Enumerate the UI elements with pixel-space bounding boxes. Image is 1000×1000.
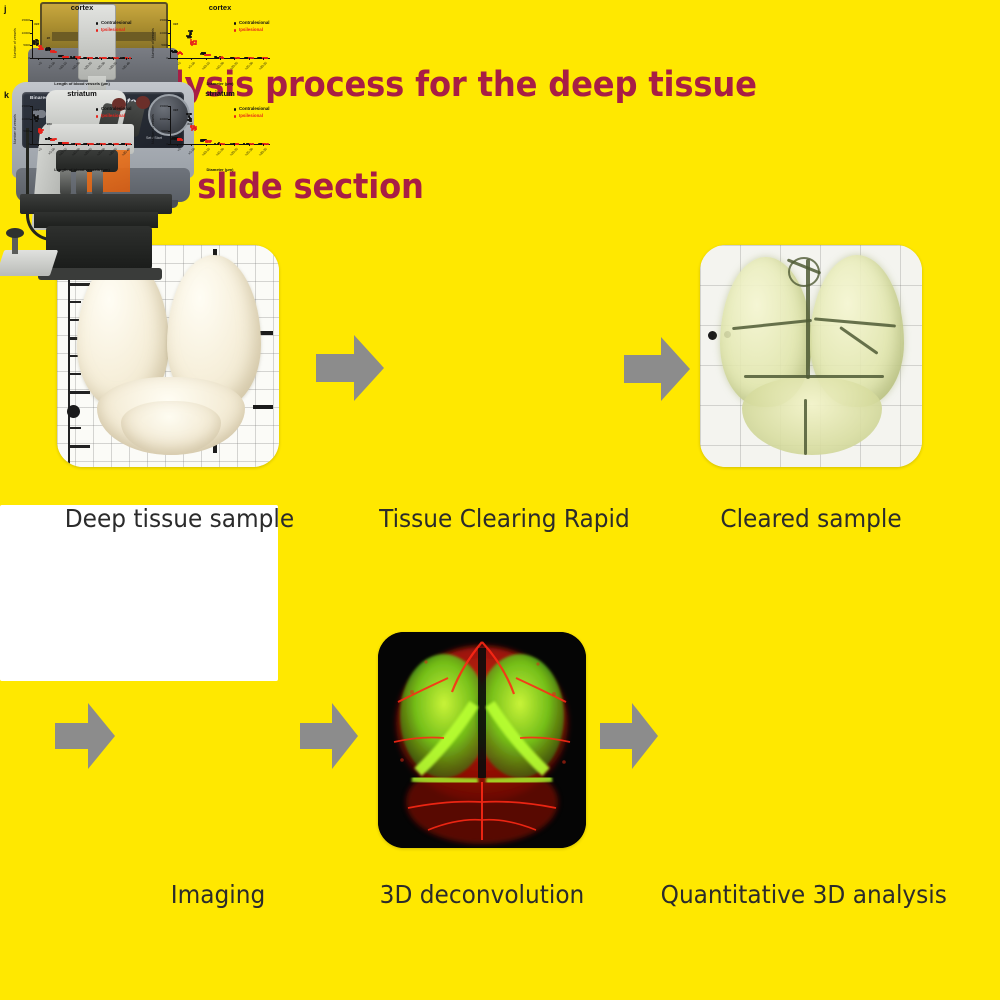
data-point (191, 129, 193, 131)
legend-label: Contralesional (101, 106, 132, 111)
data-point (259, 57, 261, 59)
x-tick (38, 58, 39, 60)
legend-marker (96, 115, 98, 117)
legend-label: Ipsilesional (239, 27, 263, 32)
data-point (194, 43, 196, 45)
x-tick (263, 58, 264, 60)
data-point (266, 57, 268, 59)
x-tick (76, 58, 77, 60)
y-axis-label: Number of vessels (13, 114, 17, 144)
data-point (223, 143, 225, 145)
arrow-clearing-to-cleared (624, 337, 690, 401)
plot-title: striatum (32, 89, 132, 98)
caption-tissue-clearing-rapid: Tissue Clearing Rapid (379, 504, 621, 533)
scatter-plot-striatum-diameter: striatum050001000015000Number of vessels… (142, 90, 276, 174)
y-axis (32, 106, 33, 144)
y-tick (168, 45, 170, 46)
y-axis-label: Number of vessels (151, 114, 155, 144)
data-point (209, 54, 211, 56)
x-axis-label: Length of blood vessels (μm) (32, 81, 132, 86)
arrow-deconvolution-to-analysis (600, 703, 658, 769)
arrow-imaging-to-deconvolution (300, 703, 358, 769)
data-point (37, 115, 39, 117)
significance-annotation: ### (173, 108, 178, 112)
data-point (55, 138, 57, 140)
x-tick (177, 58, 178, 60)
data-point (236, 57, 238, 59)
x-tick (220, 58, 221, 60)
x-tick (88, 58, 89, 60)
x-tick (76, 144, 77, 146)
data-point (177, 53, 179, 55)
x-tick (88, 144, 89, 146)
significance-annotation: ### (173, 22, 178, 26)
y-axis (32, 20, 33, 58)
arrow-cleared-to-imaging (55, 703, 115, 769)
caption-cleared-sample: Cleared sample (698, 504, 923, 533)
legend-marker (234, 108, 236, 110)
data-point (238, 57, 240, 59)
y-tick (30, 119, 32, 120)
y-tick-label: 5000 (154, 43, 168, 47)
legend-label: Contralesional (239, 20, 270, 25)
arrow-deep-to-clearing (316, 335, 384, 401)
y-tick (30, 106, 32, 107)
data-point (40, 47, 42, 49)
y-tick (168, 131, 170, 132)
x-tick (206, 58, 207, 60)
x-tick (63, 144, 64, 146)
x-axis-label: Diameter (μm) (170, 167, 270, 172)
y-tick (30, 58, 32, 59)
data-point (66, 142, 68, 144)
legend-label: Contralesional (101, 20, 132, 25)
x-tick (191, 144, 192, 146)
data-point (77, 57, 79, 59)
x-tick (263, 144, 264, 146)
y-tick-label: 0 (16, 142, 30, 146)
y-tick (168, 58, 170, 59)
legend-label: Ipsilesional (101, 27, 125, 32)
data-point (38, 131, 40, 133)
x-tick (126, 58, 127, 60)
data-point (95, 57, 97, 59)
y-tick-label: 0 (16, 56, 30, 60)
data-point (195, 41, 197, 43)
y-tick-label: 5000 (154, 129, 168, 133)
x-tick (249, 58, 250, 60)
y-tick (168, 119, 170, 120)
y-tick (168, 20, 170, 21)
y-tick-label: 10000 (154, 117, 168, 121)
x-tick (177, 144, 178, 146)
slide-canvas: 3D analysis process for the deep tissue … (0, 0, 1000, 1000)
data-point (39, 128, 41, 130)
y-tick-label: 10000 (16, 117, 30, 121)
data-point (36, 116, 38, 118)
legend-marker (234, 22, 236, 24)
legend-marker (234, 29, 236, 31)
x-tick (126, 144, 127, 146)
y-tick-label: 15000 (16, 104, 30, 108)
y-tick-label: 15000 (16, 18, 30, 22)
legend-marker (96, 29, 98, 31)
caption-deep-tissue-sample: Deep tissue sample (65, 504, 271, 533)
data-point (78, 143, 80, 145)
y-tick-label: 0 (154, 142, 168, 146)
data-point (67, 56, 69, 58)
x-tick (101, 144, 102, 146)
caption-3d-deconvolution: 3D deconvolution (376, 880, 588, 909)
x-tick (51, 144, 52, 146)
data-point (251, 143, 253, 145)
scatter-plot-cortex-length: jcortex050001000015000Number of vessels#… (4, 4, 138, 88)
microscope-stage (20, 194, 172, 214)
y-tick (168, 106, 170, 107)
y-tick-label: 15000 (154, 104, 168, 108)
data-point (108, 143, 110, 145)
significance-annotation: ## (187, 36, 190, 40)
step-image-3d-deconvolution (378, 632, 586, 848)
brain-sample-photo (75, 251, 263, 456)
x-tick (101, 58, 102, 60)
data-point (50, 51, 52, 53)
data-point (121, 143, 123, 145)
legend-marker (96, 22, 98, 24)
data-point (191, 44, 193, 46)
x-tick (51, 58, 52, 60)
y-tick-label: 15000 (154, 18, 168, 22)
plot-title: cortex (170, 3, 270, 12)
y-tick (168, 33, 170, 34)
data-point (115, 143, 117, 145)
caption-imaging: Imaging (125, 880, 311, 909)
plot-title: cortex (32, 3, 132, 12)
data-point (116, 57, 118, 59)
y-tick-label: 10000 (154, 31, 168, 35)
y-tick (30, 33, 32, 34)
y-tick-label: 5000 (16, 43, 30, 47)
data-point (83, 143, 85, 145)
y-axis-label: Number of vessels (151, 28, 155, 58)
x-tick (206, 144, 207, 146)
y-axis-label: Number of vessels (13, 28, 17, 58)
data-point (190, 113, 192, 115)
plot-title: striatum (170, 89, 270, 98)
caption-quantitative-3d-analysis: Quantitative 3D analysis (661, 880, 944, 909)
fluorescence-render (378, 632, 586, 848)
significance-annotation: ## (47, 36, 50, 40)
cleared-brain-photo (716, 249, 908, 461)
significance-annotation: ### (187, 122, 192, 126)
x-axis-label: Length of blood vessels (μm) (32, 167, 132, 172)
x-tick (220, 144, 221, 146)
microscope-joystick-controller[interactable] (0, 250, 58, 276)
data-point (243, 143, 245, 145)
panel-letter: j (4, 4, 7, 14)
x-tick (113, 58, 114, 60)
legend-label: Ipsilesional (239, 113, 263, 118)
data-point (266, 143, 268, 145)
significance-annotation: ### (34, 108, 39, 112)
y-tick-label: 5000 (16, 129, 30, 133)
data-point (190, 118, 192, 120)
step-image-cleared-sample (700, 245, 922, 467)
data-point (65, 56, 67, 58)
microscope-joystick-knob[interactable] (6, 228, 24, 238)
data-point (103, 143, 105, 145)
data-point (191, 127, 193, 129)
microscope-base (46, 226, 152, 272)
x-tick (113, 144, 114, 146)
y-tick (30, 45, 32, 46)
x-tick (63, 58, 64, 60)
legend-marker (234, 115, 236, 117)
x-tick (191, 58, 192, 60)
y-tick-label: 0 (154, 56, 168, 60)
data-point (35, 120, 37, 122)
significance-annotation: ### (47, 122, 52, 126)
y-axis (170, 20, 171, 58)
data-point (41, 131, 43, 133)
significance-annotation: ### (34, 22, 39, 26)
data-point (215, 56, 217, 58)
x-tick (234, 58, 235, 60)
y-tick-label: 10000 (16, 31, 30, 35)
legend-marker (96, 108, 98, 110)
y-tick (30, 20, 32, 21)
data-point (71, 57, 73, 59)
y-tick (30, 144, 32, 145)
legend-label: Contralesional (239, 106, 270, 111)
x-tick (249, 144, 250, 146)
legend-label: Ipsilesional (101, 113, 125, 118)
data-point (249, 143, 251, 145)
y-tick (30, 131, 32, 132)
microscope-base-pad (38, 268, 162, 280)
data-point (92, 143, 94, 145)
x-axis-label: Diameter (μm) (170, 81, 270, 86)
panel-letter: k (4, 90, 9, 100)
x-tick (234, 144, 235, 146)
x-tick (38, 144, 39, 146)
scatter-plot-cortex-diameter: cortex050001000015000Number of vessels##… (142, 4, 276, 88)
y-tick (168, 144, 170, 145)
scatter-plot-striatum-length: kstriatum050001000015000Number of vessel… (4, 90, 138, 174)
